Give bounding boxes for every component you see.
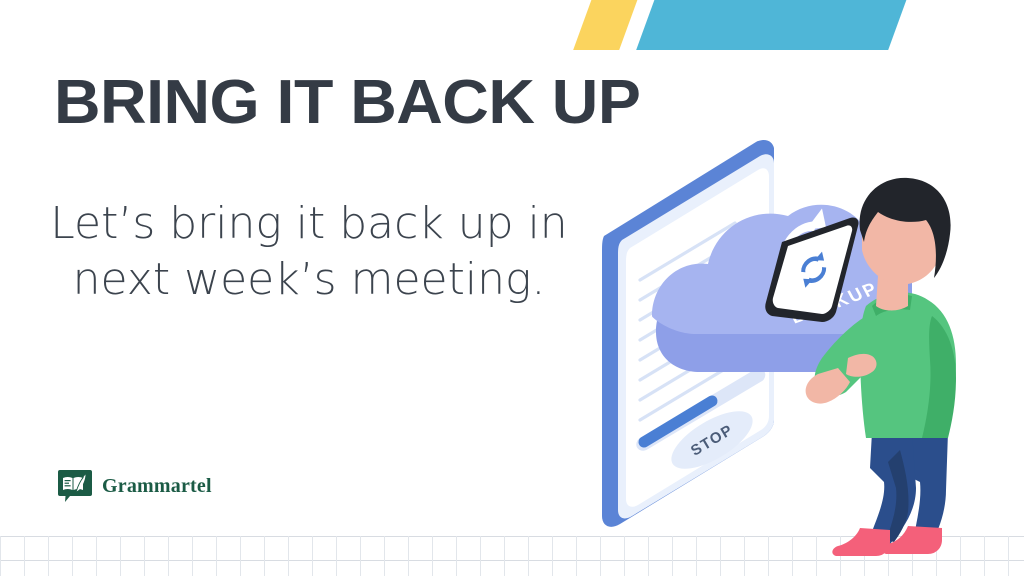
- grid-vertical-line: [336, 536, 337, 576]
- grid-vertical-line: [240, 536, 241, 576]
- grid-vertical-line: [24, 536, 25, 576]
- slide-canvas: BRING IT BACK UP Let’s bring it back up …: [0, 0, 1024, 576]
- page-title: BRING IT BACK UP: [54, 72, 640, 134]
- grid-vertical-line: [384, 536, 385, 576]
- grid-vertical-line: [504, 536, 505, 576]
- grid-vertical-line: [312, 536, 313, 576]
- grid-vertical-line: [168, 536, 169, 576]
- grid-vertical-line: [216, 536, 217, 576]
- subtitle-text: Let’s bring it back up in next week’s me…: [36, 196, 582, 309]
- grid-vertical-line: [264, 536, 265, 576]
- grid-vertical-line: [0, 536, 1, 576]
- decor-cyan-parallelogram: [636, 0, 908, 50]
- grid-vertical-line: [552, 536, 553, 576]
- grid-horizontal-line: [0, 560, 1024, 561]
- brand-logo: Grammartel: [58, 470, 212, 502]
- cloud-backup-illustration: STOP BACKUP: [560, 120, 1024, 556]
- grid-vertical-line: [144, 536, 145, 576]
- brand-name: Grammartel: [102, 475, 212, 498]
- decor-yellow-parallelogram: [573, 0, 639, 50]
- grid-vertical-line: [120, 536, 121, 576]
- grid-vertical-line: [48, 536, 49, 576]
- grid-vertical-line: [408, 536, 409, 576]
- grid-vertical-line: [192, 536, 193, 576]
- grid-vertical-line: [360, 536, 361, 576]
- grid-vertical-line: [288, 536, 289, 576]
- grid-vertical-line: [72, 536, 73, 576]
- grid-vertical-line: [96, 536, 97, 576]
- book-quill-speech-bubble-icon: [58, 470, 92, 502]
- grid-vertical-line: [456, 536, 457, 576]
- grid-vertical-line: [528, 536, 529, 576]
- grid-vertical-line: [432, 536, 433, 576]
- person-shoe-left: [832, 528, 890, 556]
- grid-vertical-line: [480, 536, 481, 576]
